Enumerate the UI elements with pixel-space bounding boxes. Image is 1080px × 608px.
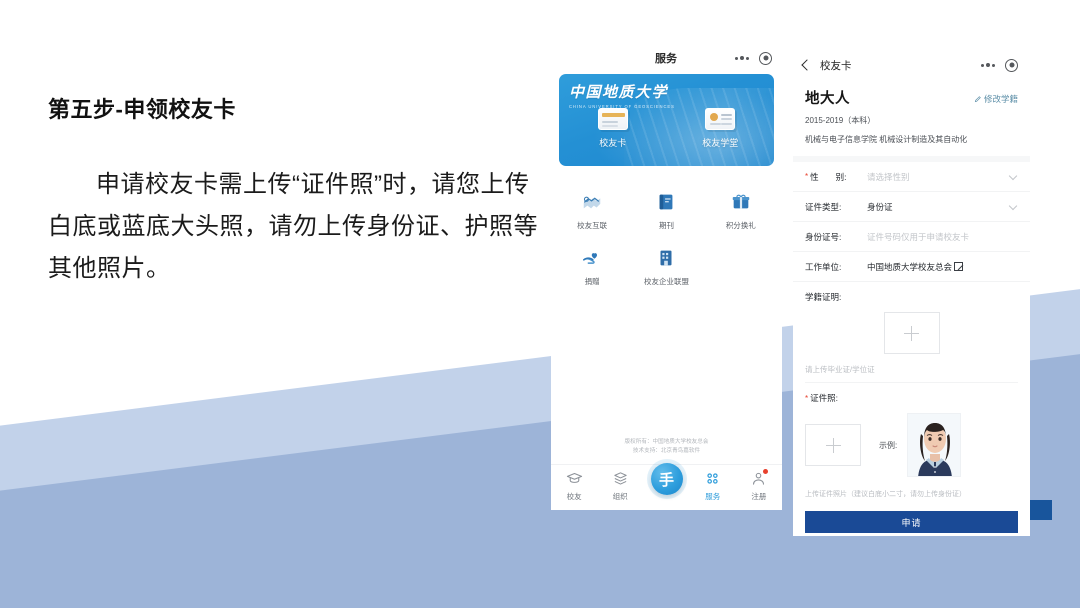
body-paragraph: 申请校友卡需上传“证件照”时，请您上传白底或蓝底大头照，请勿上传身份证、护照等其… [48,164,548,290]
photo-label: * 证件照: [805,392,1018,404]
form-label-text: 性 别: [810,171,846,183]
id-type-select-value[interactable]: 身份证 [867,201,1010,213]
form-row-gender[interactable]: * 性 别: 请选择性别 [793,162,1030,192]
user-enrollment-years: 2015-2019（本科） [805,115,1018,127]
required-star: * [805,172,808,181]
building-icon [655,247,677,269]
tab-alumni[interactable]: 校友 [551,470,597,502]
service-item-label: 校友互联 [577,220,607,231]
tab-services[interactable]: 服务 [690,470,736,502]
univ-logo-button[interactable]: 手 [651,463,683,495]
service-grid: 校友互联 期刊 积分换礼 [551,176,782,294]
transcript-hint: 请上传毕业证/学位证 [805,360,1018,383]
transcript-upload-section: 学籍证明: 请上传毕业证/学位证 [793,282,1030,383]
photo-upload-row: 示例: [805,404,1018,483]
female-id-portrait [907,413,961,477]
right-phone-title: 校友卡 [820,58,979,73]
layers-icon [612,470,629,487]
service-item-donate[interactable]: 捐赠 [555,238,629,294]
text-column: 第五步-申领校友卡 申请校友卡需上传“证件照”时，请您上传白底或蓝底大头照，请勿… [48,92,548,290]
university-banner-card[interactable]: 中国地质大学 CHINA UNIVERSITY OF GEOSCIENCES 校… [559,74,774,166]
required-star: * [805,394,808,403]
service-item-label: 积分换礼 [726,220,756,231]
banner-entry-label: 校友学堂 [702,136,738,149]
university-logo: 中国地质大学 CHINA UNIVERSITY OF GEOSCIENCES [569,81,675,109]
service-item-label: 捐赠 [585,276,600,287]
tab-label: 组织 [613,491,628,502]
university-name-cn: 中国地质大学 [569,81,675,102]
donate-heart-icon [581,247,603,269]
tab-label: 注册 [751,491,766,502]
banner-entry-alumni-card[interactable]: 校友卡 [559,108,667,149]
photo-hint: 上传证件照片（建议白底小二寸，请勿上传身份证） [805,483,1018,509]
target-icon[interactable] [759,52,772,65]
more-dots-icon[interactable] [733,53,751,63]
service-grid-row: 校友互联 期刊 积分换礼 [555,182,778,238]
tab-register[interactable]: 注册 [736,470,782,502]
form-label-text: 身份证号: [805,231,841,243]
phone-screenshot-left: 服务 中国地质大学 CHINA UNIVERSITY OF GEOSCIENCE… [551,45,782,510]
left-phone-header: 服务 [551,45,782,71]
handshake-icon [581,191,603,213]
service-grid-row: 捐赠 校友企业联盟 [555,238,778,294]
back-chevron-icon[interactable] [801,59,812,70]
form-label-text: 证件类型: [805,201,841,213]
photo-upload-box[interactable] [805,424,861,466]
grid-icon [704,470,721,487]
tab-label: 校友 [567,491,582,502]
form-label: * 性 别: [805,171,867,183]
decorative-blue-square [1028,500,1052,520]
more-dots-icon[interactable] [979,60,997,70]
id-card-icon [705,108,735,130]
transcript-label: 学籍证明: [805,291,1018,303]
edit-enrollment-label: 修改学籍 [984,93,1018,105]
copyright-line-1: 版权所有：中国地质大学校友总会 [551,438,782,447]
book-icon [655,191,677,213]
photo-upload-section: * 证件照: 示例: [793,383,1030,509]
form-row-employer[interactable]: 工作单位: 中国地质大学校友总会 [793,252,1030,282]
chevron-down-icon[interactable] [1009,201,1017,209]
transcript-upload-box[interactable] [884,312,940,354]
form-row-id-type[interactable]: 证件类型: 身份证 [793,192,1030,222]
service-grid-empty [704,238,778,294]
pencil-icon [974,95,982,103]
plus-icon [904,326,919,341]
form-row-id-number[interactable]: 身份证号: 证件号码仅用于申请校友卡 [793,222,1030,252]
copyright-block: 版权所有：中国地质大学校友总会 技术支持：北京青鸟嘉软件 [551,438,782,456]
apply-button[interactable]: 申请 [805,511,1018,533]
target-icon[interactable] [1005,59,1018,72]
tab-organization[interactable]: 组织 [597,470,643,502]
service-item-enterprise-alliance[interactable]: 校友企业联盟 [629,238,703,294]
tab-label: 服务 [705,491,720,502]
right-phone-header: 校友卡 [793,52,1030,78]
form-label-text: 工作单位: [805,261,841,273]
slide-canvas: 第五步-申领校友卡 申请校友卡需上传“证件照”时，请您上传白底或蓝底大头照，请勿… [0,0,1080,608]
form-label: 身份证号: [805,231,867,243]
photo-label-text: 证件照: [810,392,838,404]
gender-select-value[interactable]: 请选择性别 [867,171,1010,183]
edit-enrollment-link[interactable]: 修改学籍 [974,93,1018,105]
plus-icon [826,438,841,453]
service-item-journal[interactable]: 期刊 [629,182,703,238]
notification-badge [763,469,768,474]
edit-icon[interactable] [954,262,963,271]
form-label: 证件类型: [805,201,867,213]
tab-center-logo-button[interactable]: 手 [643,470,689,495]
id-number-input[interactable]: 证件号码仅用于申请校友卡 [867,231,1018,243]
banner-entry-alumni-school[interactable]: 校友学堂 [667,108,775,149]
service-item-label: 期刊 [659,220,674,231]
banner-entry-list: 校友卡 校友学堂 [559,108,774,149]
bottom-tab-bar: 校友 组织 手 服务 注册 [551,464,782,510]
copyright-line-2: 技术支持：北京青鸟嘉软件 [551,447,782,456]
user-name-row: 地大人 修改学籍 [805,87,1018,108]
transcript-upload-row [805,303,1018,360]
graduation-cap-icon [566,470,583,487]
banner-entry-label: 校友卡 [599,136,626,149]
service-item-points-gift[interactable]: 积分换礼 [704,182,778,238]
employer-value[interactable]: 中国地质大学校友总会 [867,261,952,273]
user-info-block: 地大人 修改学籍 2015-2019（本科） 机械与电子信息学院 机械设计制造及… [793,78,1030,156]
user-major: 机械与电子信息学院 机械设计制造及其自动化 [805,134,1018,146]
gift-icon [730,191,752,213]
user-name: 地大人 [805,87,974,108]
phone-screenshot-right: 校友卡 地大人 修改学籍 2015-2019（本科） 机械与电子信息学院 机械设… [793,52,1030,536]
page-title: 第五步-申领校友卡 [48,92,548,124]
form-label: 工作单位: [805,261,867,273]
service-item-label: 校友企业联盟 [644,276,689,287]
left-phone-title: 服务 [559,50,733,66]
chevron-down-icon[interactable] [1009,171,1017,179]
sample-label: 示例: [879,440,897,451]
alumni-card-icon [598,108,628,130]
alumni-card-form: 地大人 修改学籍 2015-2019（本科） 机械与电子信息学院 机械设计制造及… [793,78,1030,533]
service-item-alumni-network[interactable]: 校友互联 [555,182,629,238]
